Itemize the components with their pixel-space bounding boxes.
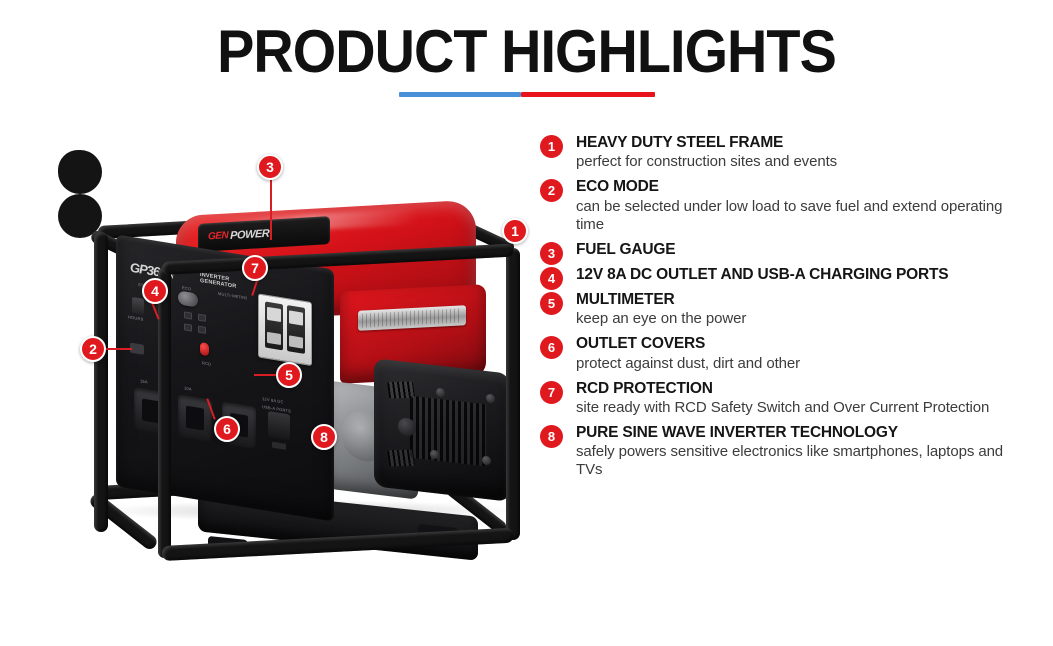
dc-outlet-port[interactable]	[268, 411, 290, 441]
feature-title-4: 12V 8A DC OUTLET AND USB-A CHARGING PORT…	[576, 266, 1010, 284]
callout-badge-7[interactable]: 7	[242, 255, 268, 281]
feature-desc-8: safely powers sensitive electronics like…	[576, 443, 1010, 479]
feature-list: 1 HEAVY DUTY STEEL FRAME perfect for con…	[540, 134, 1010, 486]
panel-label-ac2: 10A	[184, 385, 192, 391]
muffler-vent-slots-top	[387, 382, 415, 399]
page-title-container: PRODUCT HIGHLIGHTS	[0, 22, 1053, 82]
usb-a-ports[interactable]	[272, 442, 286, 450]
underline-blue-segment	[399, 92, 522, 97]
feature-desc-1: perfect for construction sites and event…	[576, 153, 1010, 171]
feature-desc-2: can be selected under low load to save f…	[576, 198, 1010, 234]
feature-title-8: PURE SINE WAVE INVERTER TECHNOLOGY	[576, 424, 1010, 442]
panel-label-meter: MULTI-METER	[218, 291, 247, 301]
indicator-led-4	[198, 326, 206, 334]
feature-item-5: 5 MULTIMETER keep an eye on the power	[540, 291, 1010, 328]
feature-item-7: 7 RCD PROTECTION site ready with RCD Saf…	[540, 380, 1010, 417]
eco-mode-switch[interactable]	[132, 297, 144, 315]
indicator-led-2	[198, 314, 206, 322]
feature-badge-1: 1	[540, 135, 563, 158]
muffler-emblem-3	[430, 449, 439, 459]
callout-badge-5[interactable]: 5	[276, 362, 302, 388]
callout-badge-3[interactable]: 3	[257, 154, 283, 180]
feature-title-1: HEAVY DUTY STEEL FRAME	[576, 134, 1010, 152]
underline-red-segment	[521, 92, 654, 97]
panel-label-rcd: RCD	[202, 360, 211, 367]
panel-label-ac1: 15A	[140, 378, 148, 384]
brand-logo-part2: POWER	[230, 228, 269, 241]
callout-badge-2[interactable]: 2	[80, 336, 106, 362]
brand-logo-part1: GEN	[208, 231, 228, 242]
feature-item-1: 1 HEAVY DUTY STEEL FRAME perfect for con…	[540, 134, 1010, 171]
frame-corner-top-left	[58, 150, 102, 194]
callout-badge-4[interactable]: 4	[142, 278, 168, 304]
frame-post-front-right	[506, 248, 520, 540]
feature-desc-6: protect against dust, dirt and other	[576, 355, 1010, 373]
feature-title-3: FUEL GAUGE	[576, 241, 1010, 259]
dc-outlet-switch[interactable]	[130, 343, 144, 355]
multimeter-display	[178, 290, 198, 307]
feature-item-2: 2 ECO MODE can be selected under low loa…	[540, 178, 1010, 233]
feature-badge-6: 6	[540, 336, 563, 359]
feature-item-8: 8 PURE SINE WAVE INVERTER TECHNOLOGY saf…	[540, 424, 1010, 479]
feature-title-5: MULTIMETER	[576, 291, 1010, 309]
feature-item-4: 4 12V 8A DC OUTLET AND USB-A CHARGING PO…	[540, 266, 1010, 284]
muffler-vent-slots-bottom	[387, 450, 415, 467]
feature-item-3: 3 FUEL GAUGE	[540, 241, 1010, 259]
feature-title-7: RCD PROTECTION	[576, 380, 1010, 398]
callout-badge-6[interactable]: 6	[214, 416, 240, 442]
product-highlights-infographic: PRODUCT HIGHLIGHTS GEN POWER	[0, 0, 1053, 646]
rcd-breaker-box[interactable]	[258, 293, 312, 366]
feature-desc-7: site ready with RCD Safety Switch and Ov…	[576, 399, 1010, 417]
panel-label-dc: 12V 8A DC	[262, 396, 284, 404]
feature-badge-8: 8	[540, 425, 563, 448]
indicator-led-3	[184, 323, 192, 331]
callout-leader-2	[106, 348, 132, 350]
feature-title-2: ECO MODE	[576, 178, 1010, 196]
muffler-emblem-4	[482, 455, 491, 465]
feature-badge-7: 7	[540, 381, 563, 404]
title-underline	[0, 92, 1053, 97]
feature-badge-2: 2	[540, 179, 563, 202]
frame-post-front-left	[158, 268, 171, 558]
page-title: PRODUCT HIGHLIGHTS	[37, 22, 1016, 82]
muffler-emblem-1	[436, 387, 445, 397]
muffler-emblem-2	[486, 393, 495, 403]
panel-label-hours: HOURS	[128, 314, 143, 322]
feature-badge-5: 5	[540, 292, 563, 315]
feature-item-6: 6 OUTLET COVERS protect against dust, di…	[540, 335, 1010, 372]
feature-desc-5: keep an eye on the power	[576, 310, 1010, 328]
callout-badge-1[interactable]: 1	[502, 218, 528, 244]
callout-leader-3	[270, 178, 272, 240]
feature-title-6: OUTLET COVERS	[576, 335, 1010, 353]
panel-model-suffix: i	[172, 274, 174, 280]
indicator-led-1	[184, 311, 192, 319]
rcd-switch-2[interactable]	[287, 305, 305, 354]
stop-button[interactable]	[200, 342, 209, 356]
product-image: GEN POWER GP3600i INVERTER GEN	[58, 150, 558, 580]
muffler-vent-slots	[410, 396, 486, 467]
feature-badge-4: 4	[540, 267, 563, 290]
callout-badge-8[interactable]: 8	[311, 424, 337, 450]
rcd-switch-1[interactable]	[265, 301, 283, 350]
frame-post-back-left	[94, 232, 108, 532]
feature-badge-3: 3	[540, 242, 563, 265]
panel-subtitle: INVERTER GENERATOR	[200, 272, 236, 290]
